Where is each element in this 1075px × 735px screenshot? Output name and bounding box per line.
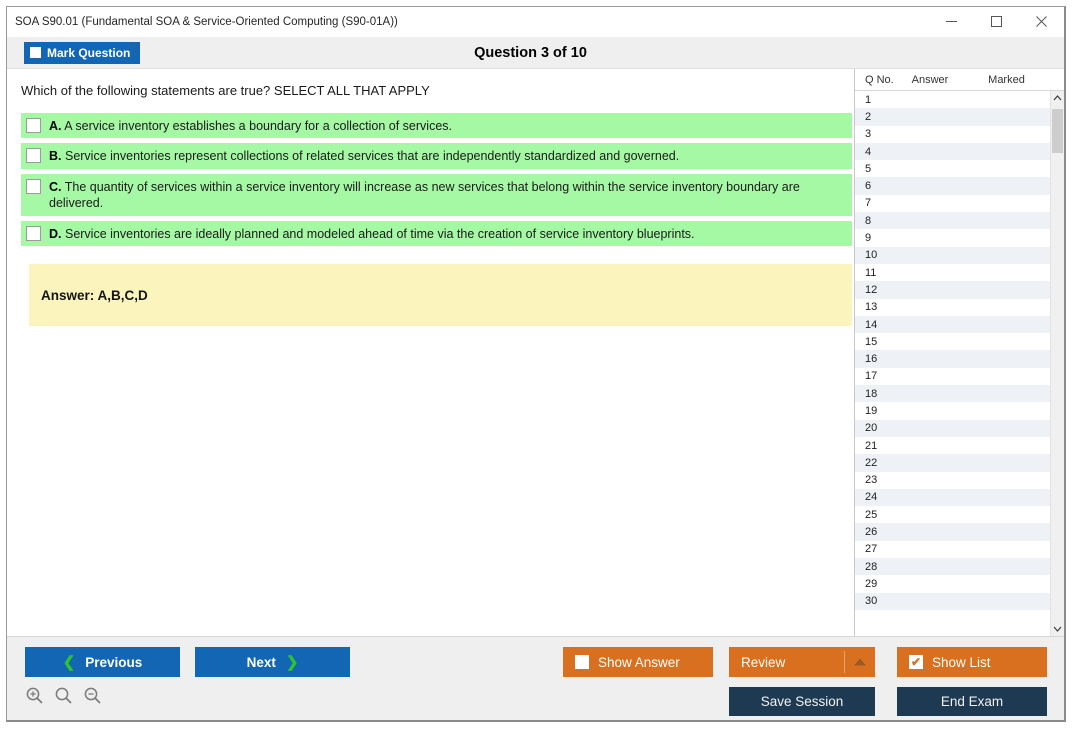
row-question-number: 1 — [855, 94, 897, 106]
question-list-row[interactable]: 4 — [855, 143, 1050, 160]
window-controls — [929, 7, 1064, 37]
option-body-c: The quantity of services within a servic… — [49, 180, 800, 211]
question-list-row[interactable]: 29 — [855, 575, 1050, 592]
question-list-row[interactable]: 9 — [855, 229, 1050, 246]
window-title: SOA S90.01 (Fundamental SOA & Service-Or… — [7, 16, 929, 28]
option-letter-d: D. — [49, 227, 62, 241]
question-list-row[interactable]: 15 — [855, 333, 1050, 350]
row-question-number: 28 — [855, 561, 897, 573]
option-checkbox-a[interactable] — [26, 118, 41, 133]
option-row[interactable]: C. The quantity of services within a ser… — [21, 174, 852, 216]
question-list-row[interactable]: 20 — [855, 420, 1050, 437]
question-list-row[interactable]: 8 — [855, 212, 1050, 229]
question-list-row[interactable]: 21 — [855, 437, 1050, 454]
row-question-number: 20 — [855, 422, 897, 434]
option-letter-b: B. — [49, 149, 62, 163]
chevron-right-icon: ❯ — [286, 655, 299, 670]
maximize-icon[interactable] — [974, 7, 1019, 37]
row-question-number: 15 — [855, 336, 897, 348]
previous-label: Previous — [85, 655, 142, 670]
question-list-row[interactable]: 25 — [855, 506, 1050, 523]
option-body-a: A service inventory establishes a bounda… — [64, 119, 452, 133]
options-list: A. A service inventory establishes a bou… — [7, 113, 854, 247]
row-question-number: 11 — [855, 267, 897, 279]
row-question-number: 23 — [855, 474, 897, 486]
question-list-row[interactable]: 24 — [855, 489, 1050, 506]
option-body-b: Service inventories represent collection… — [65, 149, 679, 163]
row-question-number: 6 — [855, 180, 897, 192]
footer-bar: ❮ Previous Next ❯ ✔ Show Answer Review ✔… — [7, 636, 1064, 720]
question-list-row[interactable]: 22 — [855, 454, 1050, 471]
row-question-number: 4 — [855, 146, 897, 158]
review-dropdown[interactable]: Review — [729, 647, 875, 677]
question-list-row[interactable]: 5 — [855, 160, 1050, 177]
scroll-up-icon[interactable] — [1051, 91, 1064, 105]
question-list-scrollbar[interactable] — [1050, 91, 1064, 636]
option-body-d: Service inventories are ideally planned … — [65, 227, 695, 241]
review-separator — [844, 651, 845, 673]
question-list-row[interactable]: 30 — [855, 593, 1050, 610]
show-list-checkbox[interactable]: ✔ — [909, 655, 923, 669]
row-question-number: 24 — [855, 491, 897, 503]
save-session-label: Save Session — [761, 694, 844, 709]
previous-button[interactable]: ❮ Previous — [25, 647, 180, 677]
mark-question-label: Mark Question — [47, 46, 130, 60]
show-answer-label: Show Answer — [598, 655, 680, 670]
zoom-in-icon[interactable] — [25, 686, 44, 710]
app-root: SOA S90.01 (Fundamental SOA & Service-Or… — [0, 0, 1075, 735]
show-answer-button[interactable]: ✔ Show Answer — [563, 647, 713, 677]
next-label: Next — [247, 655, 276, 670]
row-question-number: 10 — [855, 249, 897, 261]
scroll-down-icon[interactable] — [1051, 622, 1064, 636]
question-list-row[interactable]: 27 — [855, 541, 1050, 558]
question-list-row[interactable]: 3 — [855, 126, 1050, 143]
question-list-row[interactable]: 16 — [855, 350, 1050, 367]
row-question-number: 7 — [855, 197, 897, 209]
row-question-number: 9 — [855, 232, 897, 244]
column-header-qno: Q No. — [855, 74, 897, 86]
question-list-row[interactable]: 28 — [855, 558, 1050, 575]
option-letter-c: C. — [49, 180, 62, 194]
question-list-header: Q No. Answer Marked — [855, 69, 1064, 91]
review-label: Review — [741, 655, 785, 670]
row-question-number: 22 — [855, 457, 897, 469]
question-list-row[interactable]: 26 — [855, 523, 1050, 540]
show-list-button[interactable]: ✔ Show List — [897, 647, 1047, 677]
header-bar: Mark Question Question 3 of 10 — [7, 37, 1064, 69]
show-list-label: Show List — [932, 655, 991, 670]
question-counter: Question 3 of 10 — [7, 45, 1064, 61]
chevron-up-icon[interactable] — [854, 659, 866, 666]
zoom-controls — [25, 686, 102, 710]
row-question-number: 18 — [855, 388, 897, 400]
option-checkbox-b[interactable] — [26, 148, 41, 163]
row-question-number: 29 — [855, 578, 897, 590]
row-question-number: 16 — [855, 353, 897, 365]
row-question-number: 13 — [855, 301, 897, 313]
body: Which of the following statements are tr… — [7, 69, 1064, 636]
question-list-row[interactable]: 1 — [855, 91, 1050, 108]
option-letter-a: A. — [49, 119, 62, 133]
zoom-out-icon[interactable] — [83, 686, 102, 710]
question-list-scroll-area[interactable]: 1234567891011121314151617181920212223242… — [855, 91, 1064, 636]
option-checkbox-c[interactable] — [26, 179, 41, 194]
question-list-row[interactable]: 18 — [855, 385, 1050, 402]
exam-window: SOA S90.01 (Fundamental SOA & Service-Or… — [6, 6, 1066, 722]
question-list-row[interactable]: 7 — [855, 195, 1050, 212]
option-row[interactable]: A. A service inventory establishes a bou… — [21, 113, 852, 139]
mark-question-checkbox[interactable] — [30, 47, 41, 58]
column-header-marked: Marked — [963, 74, 1050, 86]
scrollbar-thumb[interactable] — [1052, 109, 1063, 153]
row-question-number: 2 — [855, 111, 897, 123]
question-list-panel: Q No. Answer Marked 12345678910111213141… — [854, 69, 1064, 636]
row-question-number: 25 — [855, 509, 897, 521]
question-list-row[interactable]: 6 — [855, 177, 1050, 194]
next-button[interactable]: Next ❯ — [195, 647, 350, 677]
question-prompt: Which of the following statements are tr… — [7, 69, 854, 100]
question-list-row[interactable]: 11 — [855, 264, 1050, 281]
question-list-rows: 1234567891011121314151617181920212223242… — [855, 91, 1050, 610]
question-list-row[interactable]: 10 — [855, 247, 1050, 264]
title-bar: SOA S90.01 (Fundamental SOA & Service-Or… — [7, 7, 1064, 37]
zoom-reset-icon[interactable] — [54, 686, 73, 710]
show-answer-checkbox[interactable]: ✔ — [575, 655, 589, 669]
question-list-row[interactable]: 17 — [855, 368, 1050, 385]
option-text-a: A. A service inventory establishes a bou… — [49, 117, 452, 135]
option-text-d: D. Service inventories are ideally plann… — [49, 225, 695, 243]
save-session-button[interactable]: Save Session — [729, 687, 875, 716]
question-pane: Which of the following statements are tr… — [7, 69, 854, 636]
option-row[interactable]: B. Service inventories represent collect… — [21, 143, 852, 169]
answer-label: Answer: A,B,C,D — [41, 288, 148, 303]
answer-panel: Answer: A,B,C,D — [29, 264, 852, 326]
row-question-number: 8 — [855, 215, 897, 227]
end-exam-button[interactable]: End Exam — [897, 687, 1047, 716]
row-question-number: 14 — [855, 319, 897, 331]
question-list-row[interactable]: 13 — [855, 299, 1050, 316]
row-question-number: 27 — [855, 543, 897, 555]
minimize-icon[interactable] — [929, 7, 974, 37]
question-list-row[interactable]: 12 — [855, 281, 1050, 298]
option-text-b: B. Service inventories represent collect… — [49, 147, 679, 165]
row-question-number: 17 — [855, 370, 897, 382]
row-question-number: 21 — [855, 440, 897, 452]
column-header-answer: Answer — [897, 74, 963, 86]
question-list-row[interactable]: 2 — [855, 108, 1050, 125]
row-question-number: 5 — [855, 163, 897, 175]
row-question-number: 26 — [855, 526, 897, 538]
option-checkbox-d[interactable] — [26, 226, 41, 241]
mark-question-button[interactable]: Mark Question — [24, 42, 140, 64]
option-text-c: C. The quantity of services within a ser… — [49, 178, 846, 212]
question-list-row[interactable]: 19 — [855, 402, 1050, 419]
question-list-row[interactable]: 23 — [855, 472, 1050, 489]
option-row[interactable]: D. Service inventories are ideally plann… — [21, 221, 852, 247]
close-icon[interactable] — [1019, 7, 1064, 37]
question-list-row[interactable]: 14 — [855, 316, 1050, 333]
row-question-number: 12 — [855, 284, 897, 296]
row-question-number: 19 — [855, 405, 897, 417]
row-question-number: 30 — [855, 595, 897, 607]
end-exam-label: End Exam — [941, 694, 1003, 709]
row-question-number: 3 — [855, 128, 897, 140]
chevron-left-icon: ❮ — [63, 655, 76, 670]
